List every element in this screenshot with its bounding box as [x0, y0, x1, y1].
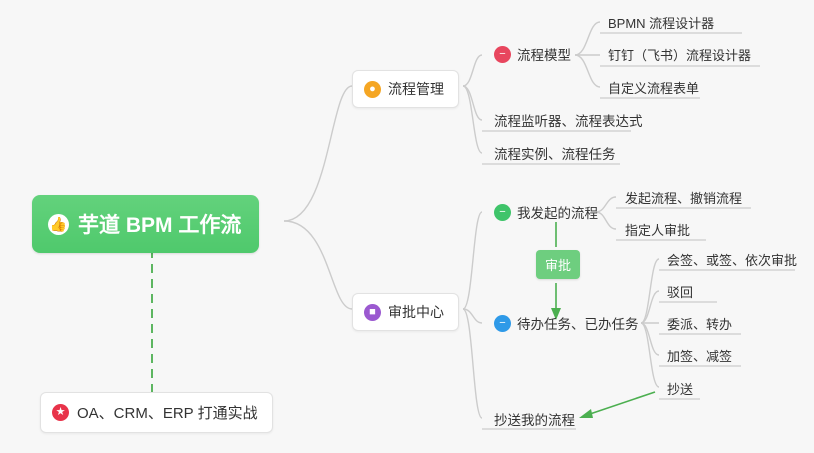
root-node[interactable]: 👍 芋道 BPM 工作流 [32, 195, 259, 253]
bottom-note[interactable]: ★ OA、CRM、ERP 打通实战 [40, 392, 273, 433]
node-add-remove-sign[interactable]: 加签、减签 [663, 344, 736, 369]
node-custom-form[interactable]: 自定义流程表单 [604, 76, 703, 101]
branch-approval-center[interactable]: ■ 审批中心 [352, 293, 459, 331]
minus-circle-green-icon: − [494, 204, 511, 221]
node-label: 流程模型 [517, 44, 571, 64]
node-process-listener[interactable]: 流程监听器、流程表达式 [490, 108, 647, 134]
node-label: 抄送我的流程 [494, 409, 575, 429]
bottom-note-label: OA、CRM、ERP 打通实战 [77, 402, 258, 423]
node-start-cancel-process[interactable]: 发起流程、撤销流程 [621, 186, 746, 211]
mindmap-canvas: 👍 芋道 BPM 工作流 ● 流程管理 ■ 审批中心 − 流程模型 流程监听器、… [0, 0, 814, 453]
minus-circle-icon: − [494, 46, 511, 63]
branch-label: 审批中心 [388, 302, 444, 322]
star-icon: ★ [52, 404, 69, 421]
node-label: 流程监听器、流程表达式 [494, 110, 643, 130]
node-label: 待办任务、已办任务 [517, 313, 639, 333]
mail-circle-icon: ■ [364, 304, 381, 321]
approve-chip[interactable]: 审批 [536, 250, 580, 279]
node-countersign[interactable]: 会签、或签、依次审批 [663, 248, 801, 273]
node-process-model[interactable]: − 流程模型 [490, 42, 575, 68]
node-process-instance[interactable]: 流程实例、流程任务 [490, 141, 620, 167]
node-label: 流程实例、流程任务 [494, 143, 616, 163]
thumbs-up-icon: 👍 [48, 214, 69, 235]
node-bpmn-designer[interactable]: BPMN 流程设计器 [604, 11, 718, 36]
branch-label: 流程管理 [388, 79, 444, 99]
node-cc[interactable]: 抄送 [663, 377, 697, 402]
node-assign-approver[interactable]: 指定人审批 [621, 218, 694, 243]
root-label: 芋道 BPM 工作流 [78, 209, 241, 239]
node-todo-done-task[interactable]: − 待办任务、已办任务 [490, 311, 643, 337]
node-cc-me-process[interactable]: 抄送我的流程 [490, 407, 579, 433]
node-delegate-transfer[interactable]: 委派、转办 [663, 312, 736, 337]
node-my-started-process[interactable]: − 我发起的流程 [490, 200, 602, 226]
node-dingtalk-designer[interactable]: 钉钉（飞书）流程设计器 [604, 43, 755, 68]
branch-process-management[interactable]: ● 流程管理 [352, 70, 459, 108]
node-reject[interactable]: 驳回 [663, 280, 697, 305]
node-label: 我发起的流程 [517, 202, 598, 222]
location-pin-icon: ● [364, 81, 381, 98]
minus-circle-blue-icon: − [494, 315, 511, 332]
